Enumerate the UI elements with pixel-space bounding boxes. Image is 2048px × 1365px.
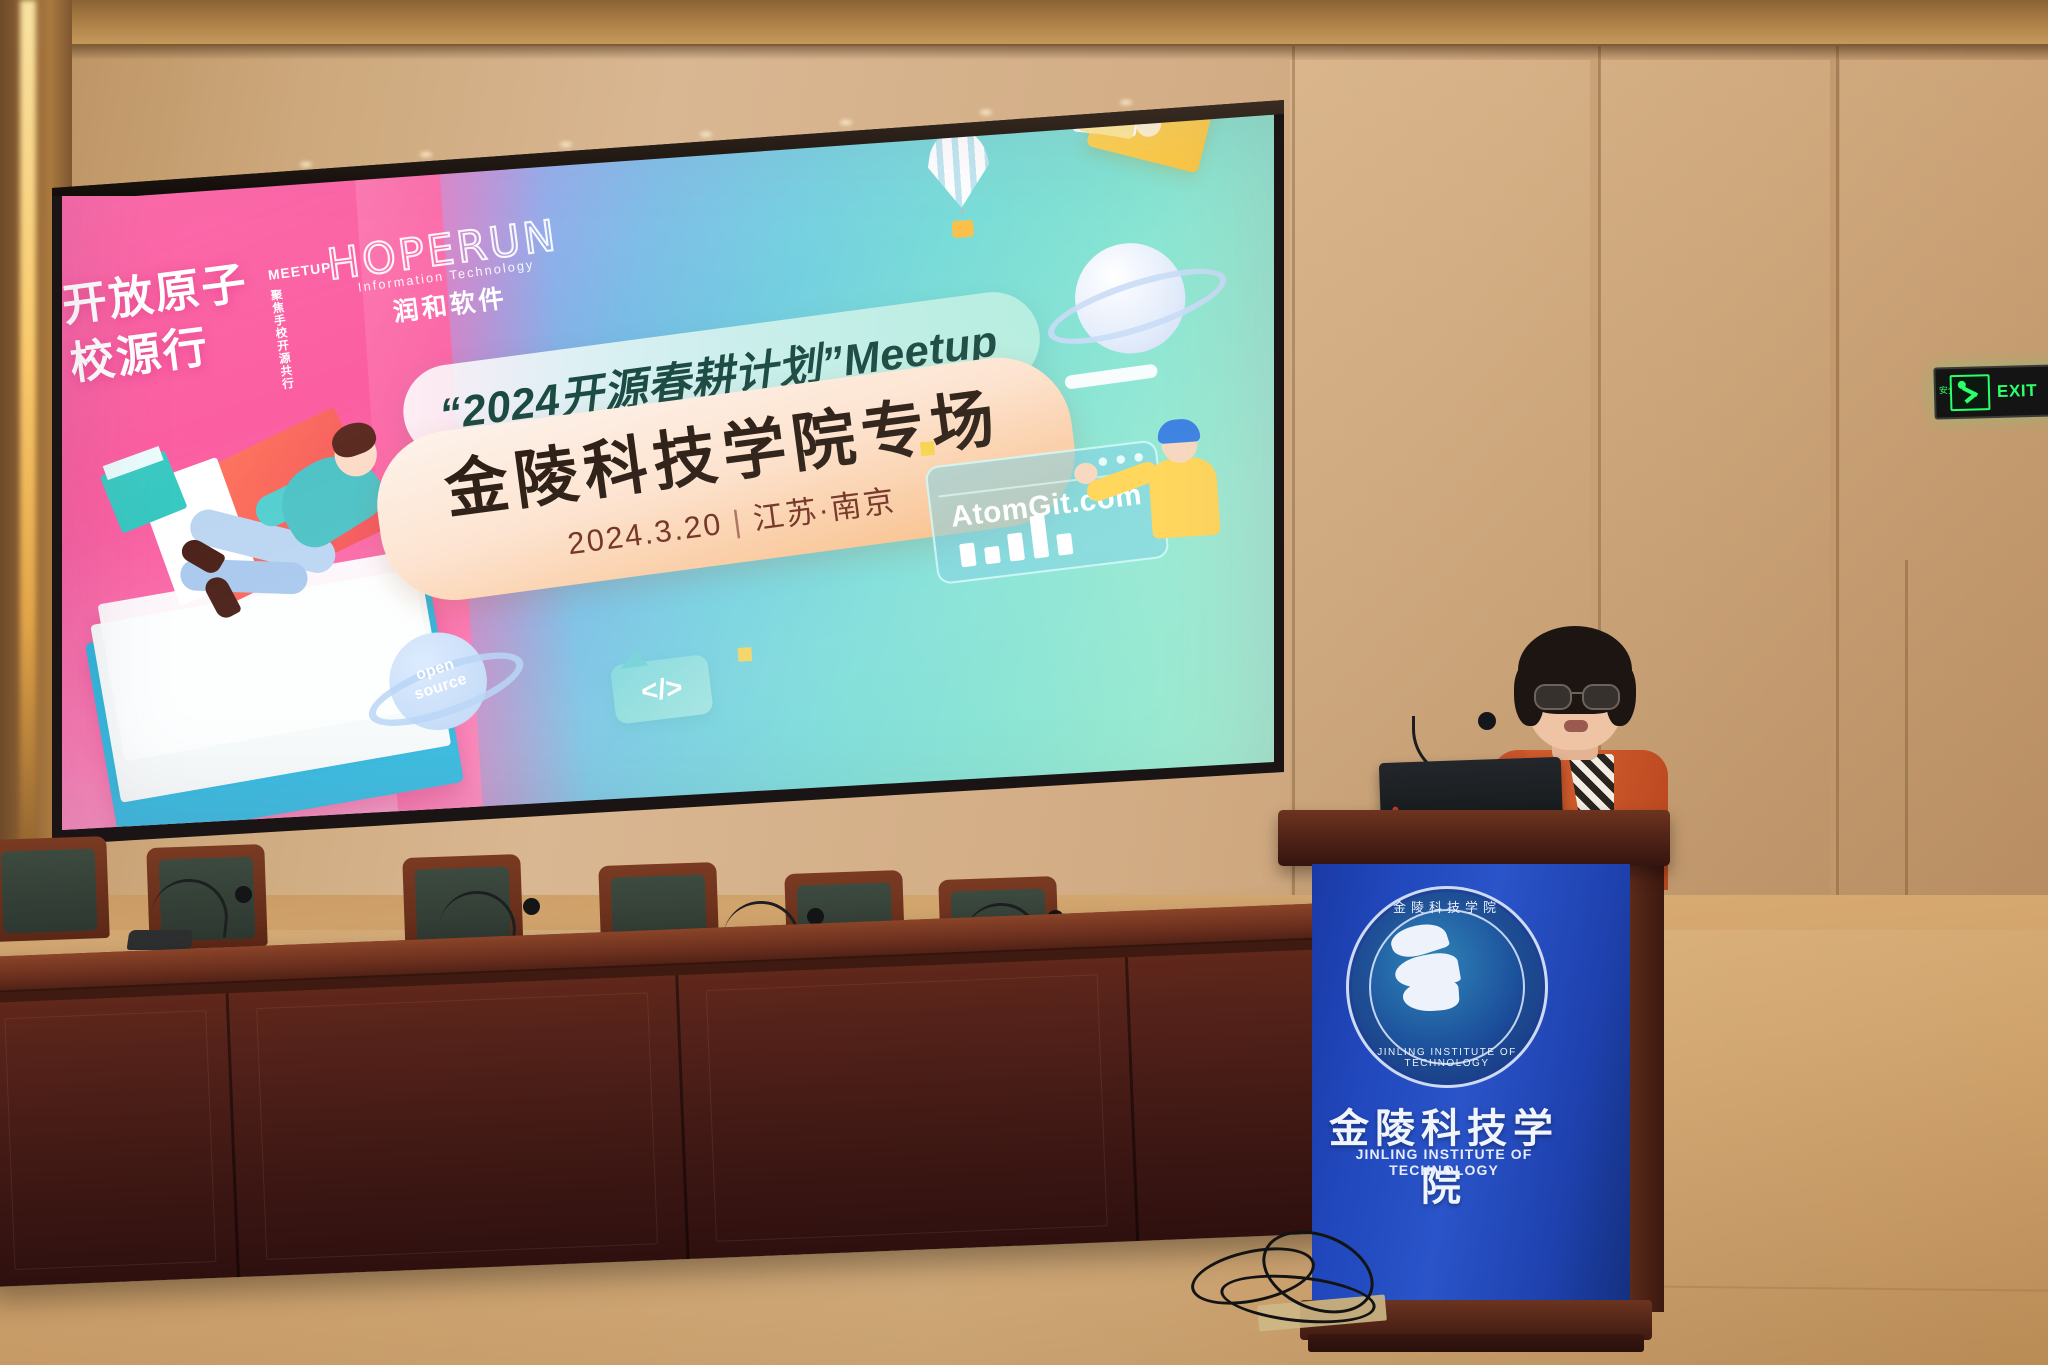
conference-table [0,903,1346,1287]
crest-label-en: JINLING INSTITUTE OF TECHNOLOGY [1349,1047,1545,1069]
left-wall-light [20,0,36,880]
gooseneck-microphone [128,876,248,950]
ceiling-strip [0,0,2048,46]
speaker-mouth [1564,720,1588,732]
crest-label-cn: 金陵科技学院 [1349,897,1545,916]
led-screen: open source 开放原子 校源行 MEETUP 聚焦手校 开源共行 HO… [62,108,1274,830]
crest-bird-icon [1389,921,1467,1013]
running-man-icon [1950,374,1991,411]
glasses-icon [1534,684,1572,710]
university-crest: 金陵科技学院 JINLING INSTITUTE OF TECHNOLOGY [1346,886,1548,1088]
glasses-icon [1582,684,1620,710]
floor-cables [1190,1230,1450,1350]
podium-name-en: JINLING INSTITUTE OF TECHNOLOGY [1320,1146,1568,1178]
exit-sign: 安全出口 EXIT [1933,364,2048,419]
exit-sign-label: EXIT [1997,381,2038,402]
screen-vignette [62,108,1274,830]
chair [0,836,110,942]
ceiling-shadow [0,44,2048,60]
screenshot-root: open source 开放原子 校源行 MEETUP 聚焦手校 开源共行 HO… [0,0,2048,1365]
